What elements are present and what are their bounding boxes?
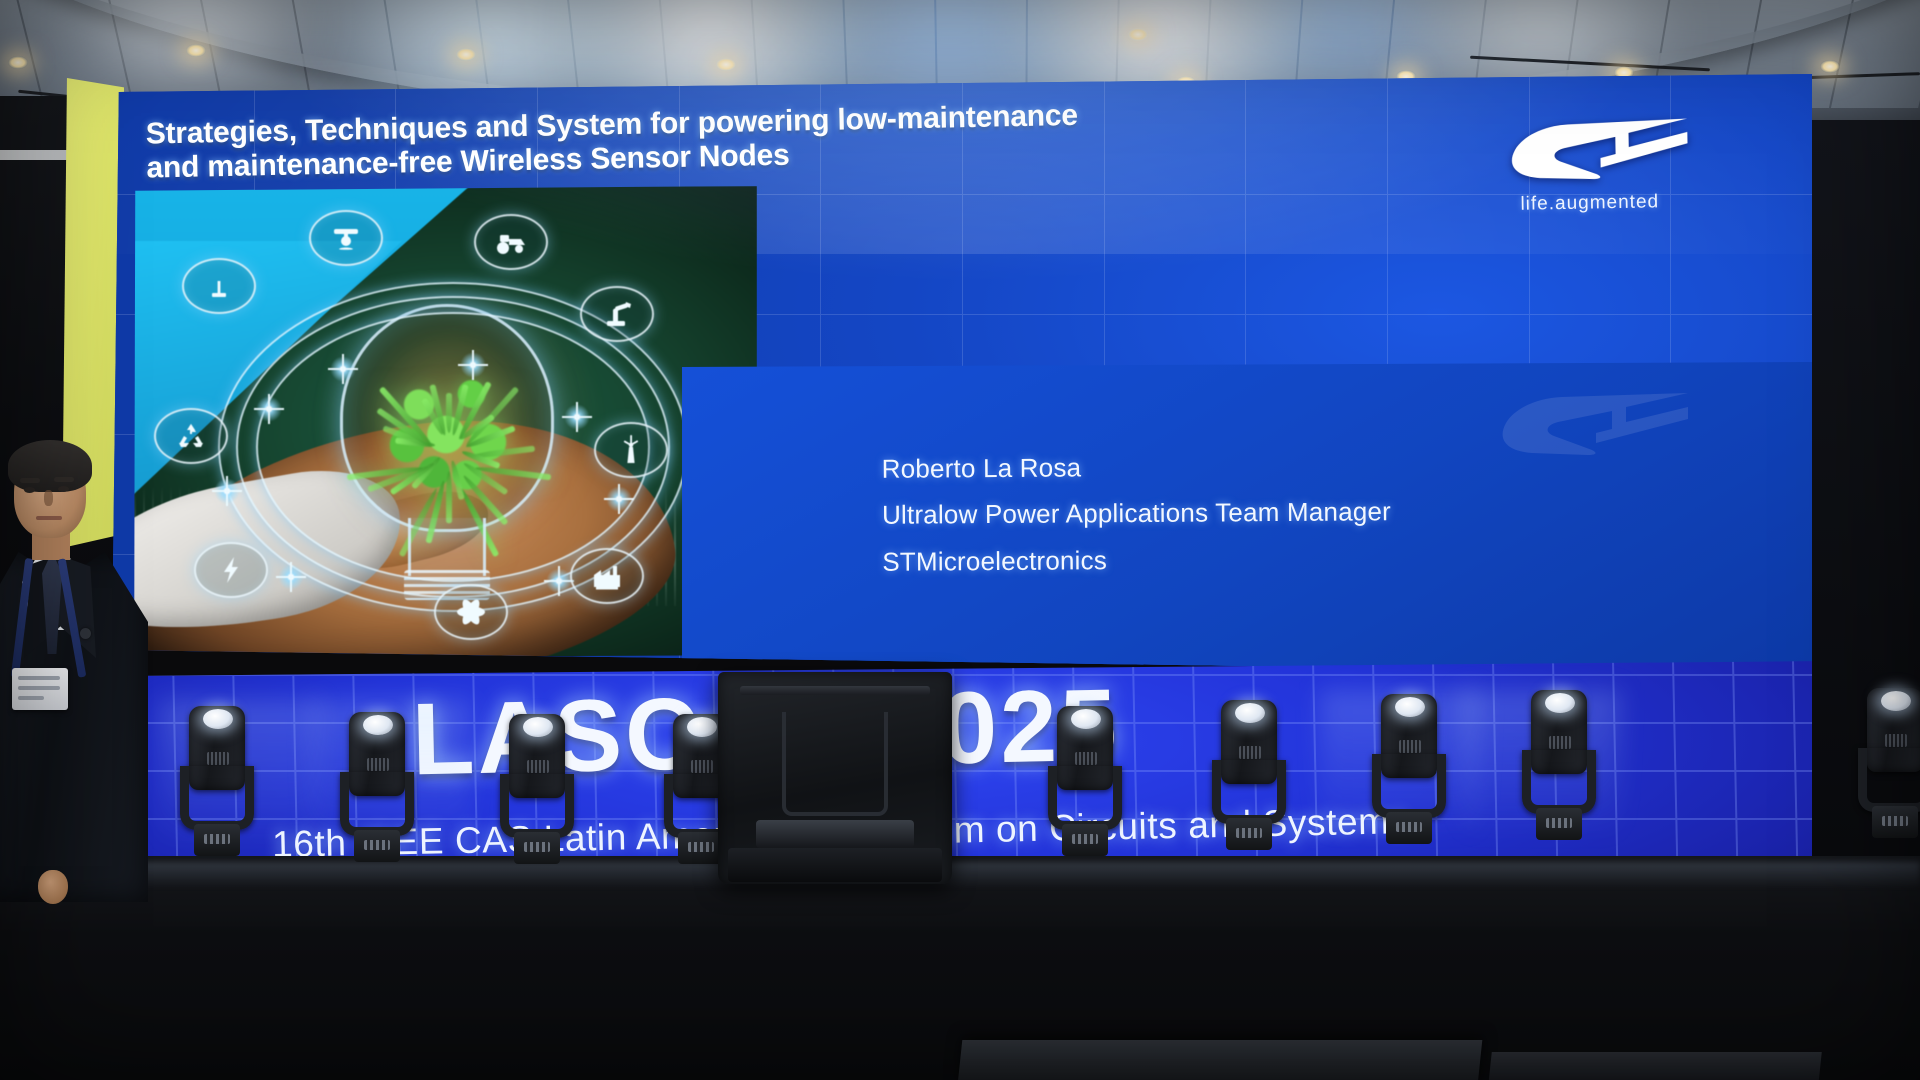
- downlight: [1128, 28, 1148, 41]
- robot-arm-icon: [580, 286, 654, 342]
- tractor-icon: [474, 214, 548, 270]
- moving-head-light: [500, 714, 574, 864]
- light-base-display: [524, 842, 550, 852]
- downlight: [716, 58, 736, 71]
- st-logo-tagline: life.augmented: [1520, 190, 1732, 216]
- light-vent: [527, 760, 549, 773]
- led-presentation-screen: Strategies, Techniques and System for po…: [112, 74, 1812, 674]
- speaker-company: STMicroelectronics: [882, 535, 1391, 585]
- slide-infographic-image: [134, 186, 757, 658]
- light-base-display: [1882, 816, 1908, 826]
- light-lens: [363, 715, 393, 735]
- stage-floor-highlight: [0, 862, 1920, 888]
- light-vent: [207, 752, 229, 765]
- node-spark: [460, 352, 486, 378]
- light-yoke: [1212, 760, 1286, 824]
- stage-confidence-monitor: [718, 672, 952, 884]
- light-yoke: [340, 772, 414, 836]
- moving-head-light: [1522, 690, 1596, 840]
- recycle-icon: [154, 408, 228, 464]
- light-vent: [367, 758, 389, 771]
- light-lens: [687, 717, 717, 737]
- monitor-stand-foot: [756, 820, 914, 848]
- light-lens: [1545, 693, 1575, 713]
- light-lens: [523, 717, 553, 737]
- stage-floor: [0, 856, 1920, 1080]
- stage-riser: [1488, 1052, 1822, 1080]
- monitor-stand-base: [728, 848, 942, 882]
- light-base-display: [1072, 834, 1098, 844]
- st-logo-watermark: [1492, 388, 1692, 468]
- light-base-display: [204, 834, 230, 844]
- light-yoke: [1048, 766, 1122, 830]
- light-yoke: [1858, 748, 1920, 812]
- presenter-mouth: [36, 516, 62, 520]
- node-spark: [564, 404, 590, 430]
- node-spark: [330, 356, 356, 382]
- downlight: [8, 56, 28, 69]
- light-vent: [1549, 736, 1571, 749]
- light-lens: [1071, 709, 1101, 729]
- node-spark: [278, 564, 304, 590]
- presenter-eye: [58, 486, 69, 492]
- monitor-stand-neck: [782, 712, 888, 816]
- light-lens: [203, 709, 233, 729]
- moving-head-light: [1212, 700, 1286, 850]
- light-base-display: [1396, 822, 1422, 832]
- light-base-display: [1236, 828, 1262, 838]
- st-logo: life.augmented: [1501, 114, 1733, 238]
- moving-head-light: [340, 712, 414, 862]
- windmill-icon: [594, 422, 668, 478]
- presenter-nose: [44, 490, 53, 506]
- speaker-role: Ultralow Power Applications Team Manager: [882, 488, 1391, 538]
- presenter: [0, 432, 144, 902]
- light-vent: [1885, 734, 1907, 747]
- sprinkler-sensor-icon: [182, 258, 256, 314]
- light-base-display: [1546, 818, 1572, 828]
- node-spark: [256, 396, 282, 422]
- light-lens: [1395, 697, 1425, 717]
- presenter-lapel-mic: [80, 628, 91, 639]
- light-base-display: [364, 840, 390, 850]
- light-yoke: [500, 774, 574, 838]
- presenter-eyebrow: [54, 477, 74, 482]
- st-logo-mark: [1501, 115, 1692, 192]
- downlight: [1820, 60, 1840, 73]
- light-lens: [1235, 703, 1265, 723]
- light-vent: [1239, 746, 1261, 759]
- light-yoke: [180, 766, 254, 830]
- light-yoke: [1372, 754, 1446, 818]
- ring-inner: [256, 312, 650, 582]
- moving-head-light: [1858, 688, 1920, 838]
- presenter-hand: [38, 870, 68, 904]
- light-vent: [1075, 752, 1097, 765]
- factory-icon: [570, 548, 644, 604]
- light-vent: [691, 760, 713, 773]
- presenter-eyebrow: [20, 478, 40, 483]
- moving-head-light: [1048, 706, 1122, 856]
- speaker-info-panel: Roberto La Rosa Ultralow Power Applicati…: [682, 362, 1812, 674]
- security-camera-icon: [309, 210, 383, 266]
- speaker-name: Roberto La Rosa: [882, 442, 1391, 492]
- speaker-details: Roberto La Rosa Ultralow Power Applicati…: [882, 442, 1392, 584]
- light-yoke: [1522, 750, 1596, 814]
- downlight: [186, 44, 206, 57]
- lightning-bolt-icon: [194, 542, 268, 598]
- node-spark: [214, 478, 240, 504]
- presenter-hair: [8, 440, 92, 492]
- downlight: [456, 48, 476, 61]
- node-spark: [546, 568, 572, 594]
- moving-head-light: [180, 706, 254, 856]
- moving-head-light: [1372, 694, 1446, 844]
- atom-icon: [434, 584, 508, 640]
- light-lens: [1881, 691, 1911, 711]
- node-spark: [606, 486, 632, 512]
- monitor-top-vent: [740, 686, 930, 695]
- light-vent: [1399, 740, 1421, 753]
- presenter-eye: [24, 487, 35, 493]
- screenshot-root: Strategies, Techniques and System for po…: [0, 0, 1920, 1080]
- presenter-badge: [12, 668, 68, 710]
- light-base-display: [688, 842, 714, 852]
- stage-riser: [958, 1040, 1483, 1080]
